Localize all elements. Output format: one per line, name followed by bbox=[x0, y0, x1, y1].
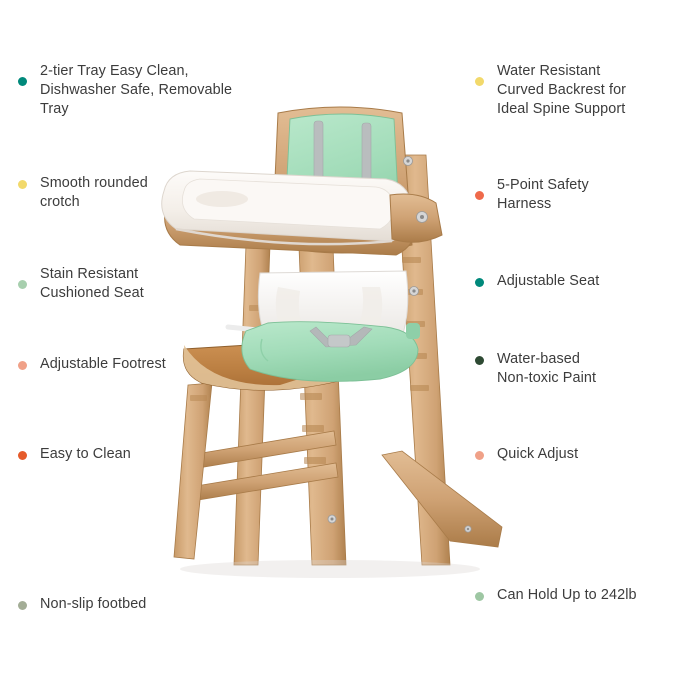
feature-item-water-based-non-toxic-paint: Water-based Non-toxic Paint bbox=[475, 350, 679, 388]
feature-label: Stain Resistant Cushioned Seat bbox=[40, 265, 144, 303]
feature-item-smooth-rounded-crotch: Smooth rounded crotch bbox=[18, 174, 268, 212]
feature-label: Adjustable Seat bbox=[497, 272, 599, 291]
bullet-dot-icon bbox=[475, 191, 484, 200]
feature-item-adjustable-footrest: Adjustable Footrest bbox=[18, 355, 268, 374]
feature-item-water-resistant-curved-backrest: Water Resistant Curved Backrest for Idea… bbox=[475, 62, 679, 119]
bullet-dot-icon bbox=[18, 601, 27, 610]
feature-item-weight-capacity: Can Hold Up to 242lb bbox=[475, 586, 679, 605]
feature-label: Easy to Clean bbox=[40, 445, 131, 464]
bullet-dot-icon bbox=[475, 451, 484, 460]
feature-label: 5-Point Safety Harness bbox=[497, 176, 589, 214]
feature-label: Water-based Non-toxic Paint bbox=[497, 350, 596, 388]
bullet-dot-icon bbox=[475, 592, 484, 601]
feature-list-right: Water Resistant Curved Backrest for Idea… bbox=[475, 0, 679, 679]
bullet-dot-icon bbox=[18, 361, 27, 370]
bullet-dot-icon bbox=[475, 356, 484, 365]
feature-item-quick-adjust: Quick Adjust bbox=[475, 445, 679, 464]
feature-item-easy-to-clean: Easy to Clean bbox=[18, 445, 268, 464]
feature-label: Water Resistant Curved Backrest for Idea… bbox=[497, 62, 626, 119]
feature-item-non-slip-footbed: Non-slip footbed bbox=[18, 595, 268, 614]
product-feature-infographic: 2-tier Tray Easy Clean, Dishwasher Safe,… bbox=[0, 0, 679, 679]
feature-label: Adjustable Footrest bbox=[40, 355, 166, 374]
feature-item-two-tier-tray: 2-tier Tray Easy Clean, Dishwasher Safe,… bbox=[18, 62, 268, 119]
seat-cushion bbox=[242, 322, 418, 382]
feature-label: Quick Adjust bbox=[497, 445, 578, 464]
bullet-dot-icon bbox=[18, 180, 27, 189]
bullet-dot-icon bbox=[475, 77, 484, 86]
bullet-dot-icon bbox=[475, 278, 484, 287]
feature-label: Can Hold Up to 242lb bbox=[497, 586, 637, 605]
feature-item-five-point-safety-harness: 5-Point Safety Harness bbox=[475, 176, 679, 214]
feature-label: 2-tier Tray Easy Clean, Dishwasher Safe,… bbox=[40, 62, 232, 119]
feature-item-stain-resistant-cushioned-seat: Stain Resistant Cushioned Seat bbox=[18, 265, 268, 303]
feature-item-adjustable-seat: Adjustable Seat bbox=[475, 272, 679, 291]
bullet-dot-icon bbox=[18, 280, 27, 289]
feature-list-left: 2-tier Tray Easy Clean, Dishwasher Safe,… bbox=[18, 0, 268, 679]
bullet-dot-icon bbox=[18, 451, 27, 460]
feature-label: Smooth rounded crotch bbox=[40, 174, 148, 212]
side-connector bbox=[390, 194, 442, 242]
bullet-dot-icon bbox=[18, 77, 27, 86]
feature-label: Non-slip footbed bbox=[40, 595, 146, 614]
